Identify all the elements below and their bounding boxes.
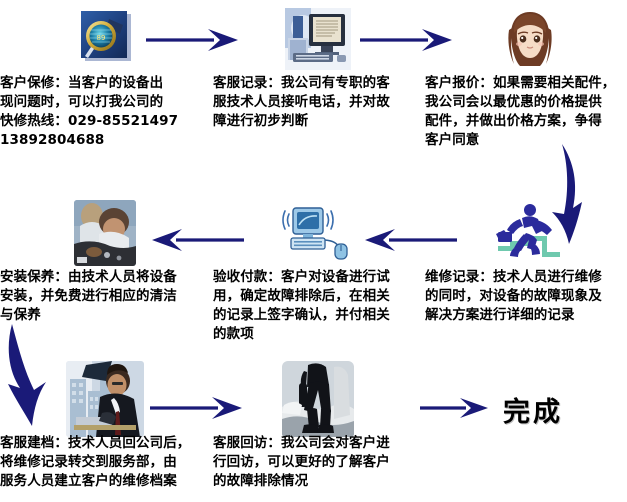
customer-portrait-icon <box>500 8 560 70</box>
completion-label: 完成 <box>503 390 563 429</box>
flow-step-caption: 安装保养：由技术人员将设备 安装，并免费进行相应的清洁 与保养 <box>0 268 210 325</box>
installation-maintenance-photo <box>74 200 136 266</box>
desktop-computer-icon <box>285 8 351 70</box>
flow-step-service-filing: 客服建档：技术人员回公司后， 将维修记录转交到服务部，由 服务人员建立客户的维修… <box>0 364 210 491</box>
flow-step-caption: 验收付款：客户对设备进行试 用，确定故障排除后，在相关 的记录上签字确认，并付相… <box>213 268 423 345</box>
monitor-mouse-icon <box>281 204 355 262</box>
flow-step-caption: 客服记录：我公司有专职的客 服技术人员接听电话，并对故 障进行初步判断 <box>213 74 423 131</box>
flow-step-acceptance-payment: 验收付款：客户对设备进行试 用，确定故障排除后，在相关 的记录上签字确认，并付相… <box>213 198 423 345</box>
walking-visitor-photo-wrap <box>213 364 423 434</box>
flow-step-caption: 客户报价：如果需要相关配件， 我公司会以最优惠的价格提供 配件，并做出价格方案，… <box>425 74 627 151</box>
flow-step-followup-visit: 客服回访：我公司会对客户进 行回访，可以更好的了解客户 的故障排除情况 <box>213 364 423 491</box>
walking-visitor-photo <box>282 361 354 437</box>
service-process-flowchart: 89 客户保修：当客户的设备出 现问题时，可以打我公司的 快修热线：029-85… <box>0 0 627 502</box>
flow-step-customer-warranty: 89 客户保修：当客户的设备出 现问题时，可以打我公司的 快修热线：029-85… <box>0 4 210 151</box>
technician-repair-photo-wrap <box>425 198 627 268</box>
flow-step-installation-maintenance: 安装保养：由技术人员将设备 安装，并免费进行相应的清洁 与保养 <box>0 198 210 325</box>
magnifier-lens-icon: 89 <box>76 10 134 68</box>
arrow-step8-done <box>420 396 488 424</box>
flow-step-caption: 客服回访：我公司会对客户进 行回访，可以更好的了解客户 的故障排除情况 <box>213 434 423 491</box>
technician-repair-photo <box>492 200 568 266</box>
svg-text:89: 89 <box>97 34 106 42</box>
flow-step-customer-quote: 客户报价：如果需要相关配件， 我公司会以最优惠的价格提供 配件，并做出价格方案，… <box>425 4 627 151</box>
flow-step-caption: 客户保修：当客户的设备出 现问题时，可以打我公司的 快修热线：029-85521… <box>0 74 210 151</box>
flow-step-caption: 维修记录：技术人员进行维修 的同时，对设备的故障现象及 解决方案进行详细的记录 <box>425 268 627 325</box>
flow-step-service-record: 客服记录：我公司有专职的客 服技术人员接听电话，并对故 障进行初步判断 <box>213 4 423 131</box>
flow-step-caption: 客服建档：技术人员回公司后， 将维修记录转交到服务部，由 服务人员建立客户的维修… <box>0 434 210 491</box>
flow-step-repair-record: 维修记录：技术人员进行维修 的同时，对设备的故障现象及 解决方案进行详细的记录 <box>425 198 627 325</box>
office-worker-photo <box>66 361 144 437</box>
customer-portrait-icon-wrap <box>425 4 627 74</box>
